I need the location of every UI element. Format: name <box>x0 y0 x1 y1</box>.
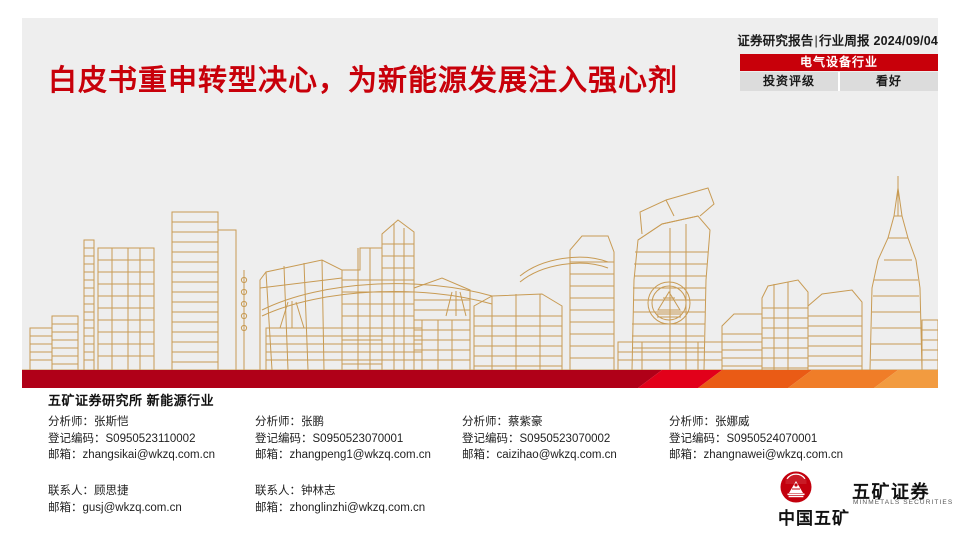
analyst-email[interactable]: 邮箱：caizihao@wkzq.com.cn <box>462 447 669 464</box>
analyst-code: 登记编码：S0950523070001 <box>255 431 462 448</box>
analyst-name: 分析师：蔡紫豪 <box>462 414 669 431</box>
contact-email[interactable]: 邮箱：gusj@wkzq.com.cn <box>48 500 255 517</box>
analyst-column: 分析师：张娜威 登记编码：S0950524070001 邮箱：zhangnawe… <box>669 414 876 464</box>
contact-list: 联系人：顾思捷 邮箱：gusj@wkzq.com.cn 联系人：钟林志 邮箱：z… <box>48 483 648 516</box>
analyst-code: 登记编码：S0950523070002 <box>462 431 669 448</box>
contact-name: 联系人：顾思捷 <box>48 483 255 500</box>
rating-label-cell: 投资评级 <box>740 72 840 91</box>
city-skyline-illustration <box>22 120 938 370</box>
company-logo-group: 中国五矿 五矿证券 MINMETALS SECURITIES <box>778 470 938 530</box>
minmetals-emblem-icon <box>778 470 814 506</box>
brand-color-band <box>22 370 938 388</box>
contact-email[interactable]: 邮箱：zhonglinzhi@wkzq.com.cn <box>255 500 462 517</box>
industry-name-cell: 电气设备行业 <box>740 54 938 71</box>
report-cover-page: 证券研究报告|行业周报 2024/09/04 电气设备行业 投资评级 看好 白皮… <box>0 0 960 540</box>
rating-row: 投资评级 看好 <box>740 72 938 91</box>
report-meta: 证券研究报告|行业周报 2024/09/04 <box>737 30 938 49</box>
contact-column: 联系人：顾思捷 邮箱：gusj@wkzq.com.cn <box>48 483 255 516</box>
analyst-code: 登记编码：S0950523110002 <box>48 431 255 448</box>
analyst-name: 分析师：张娜威 <box>669 414 876 431</box>
analyst-name: 分析师：张鹏 <box>255 414 462 431</box>
analyst-code: 登记编码：S0950524070001 <box>669 431 876 448</box>
page-title: 白皮书重申转型决心，为新能源发展注入强心剂 <box>48 57 678 99</box>
rating-value-cell: 看好 <box>840 72 938 91</box>
department-label: 五矿证券研究所 新能源行业 <box>48 390 214 409</box>
analyst-column: 分析师：蔡紫豪 登记编码：S0950523070002 邮箱：caizihao@… <box>462 414 669 464</box>
investment-rating-table: 电气设备行业 投资评级 看好 <box>740 54 938 91</box>
analyst-column: 分析师：张斯恺 登记编码：S0950523110002 邮箱：zhangsika… <box>48 414 255 464</box>
contact-column: 联系人：钟林志 邮箱：zhonglinzhi@wkzq.com.cn <box>255 483 462 516</box>
analyst-name: 分析师：张斯恺 <box>48 414 255 431</box>
analyst-email[interactable]: 邮箱：zhangsikai@wkzq.com.cn <box>48 447 255 464</box>
contact-name: 联系人：钟林志 <box>255 483 462 500</box>
analyst-column: 分析师：张鹏 登记编码：S0950523070001 邮箱：zhangpeng1… <box>255 414 462 464</box>
report-type-label: 证券研究报告 <box>737 34 813 48</box>
report-date: 2024/09/04 <box>873 34 938 48</box>
report-kind-label: 行业周报 <box>819 34 870 48</box>
securities-name-en-label: MINMETALS SECURITIES <box>853 499 953 506</box>
analyst-email[interactable]: 邮箱：zhangpeng1@wkzq.com.cn <box>255 447 462 464</box>
group-name-label: 中国五矿 <box>778 504 850 529</box>
analyst-list: 分析师：张斯恺 登记编码：S0950523110002 邮箱：zhangsika… <box>48 414 908 464</box>
analyst-email[interactable]: 邮箱：zhangnawei@wkzq.com.cn <box>669 447 876 464</box>
